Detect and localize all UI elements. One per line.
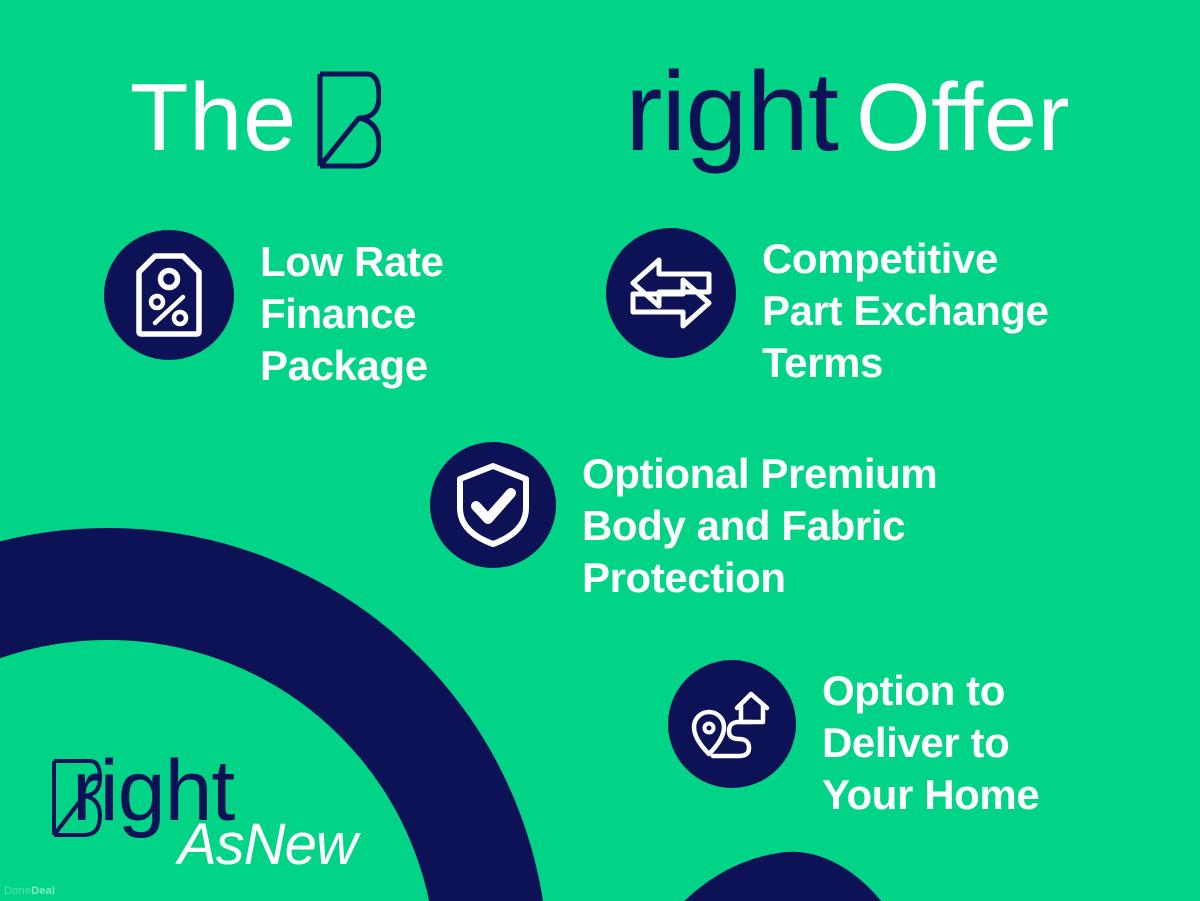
feature-label-finance: Low Rate Finance Package <box>260 230 443 392</box>
price-tag-percent-icon <box>104 230 234 360</box>
feature-item-protection: Optional Premium Body and Fabric Protect… <box>430 442 937 604</box>
navy-blob-shape <box>585 834 945 901</box>
shield-check-icon <box>430 442 556 568</box>
map-pin-road-house-icon <box>668 660 796 788</box>
title-brand-visible: right <box>625 49 838 174</box>
watermark-suffix: Deal <box>31 885 55 897</box>
logo-asnew-text: AsNew <box>178 816 357 874</box>
title-word-offer: Offer <box>856 70 1070 166</box>
title-brand-bright: Brightright <box>315 56 838 168</box>
watermark: DoneDeal <box>4 885 55 897</box>
title-word-the: The <box>130 70 297 166</box>
page-title: TheBrightrightOffer <box>0 56 1200 168</box>
watermark-prefix: Done <box>4 885 31 897</box>
exchange-arrows-icon <box>606 228 736 358</box>
brand-b-logomark-icon <box>315 70 381 170</box>
feature-item-home-delivery: Option to Deliver to Your Home <box>668 660 1039 821</box>
feature-item-part-exchange: Competitive Part Exchange Terms <box>606 228 1049 389</box>
offer-slide: TheBrightrightOffer Low Rate Finance Pac… <box>0 0 1200 901</box>
feature-label-home-delivery: Option to Deliver to Your Home <box>822 660 1039 821</box>
feature-item-finance: Low Rate Finance Package <box>104 230 443 392</box>
feature-label-part-exchange: Competitive Part Exchange Terms <box>762 228 1049 389</box>
feature-label-protection: Optional Premium Body and Fabric Protect… <box>582 442 937 604</box>
brand-logo: Brightright AsNew <box>50 748 380 878</box>
